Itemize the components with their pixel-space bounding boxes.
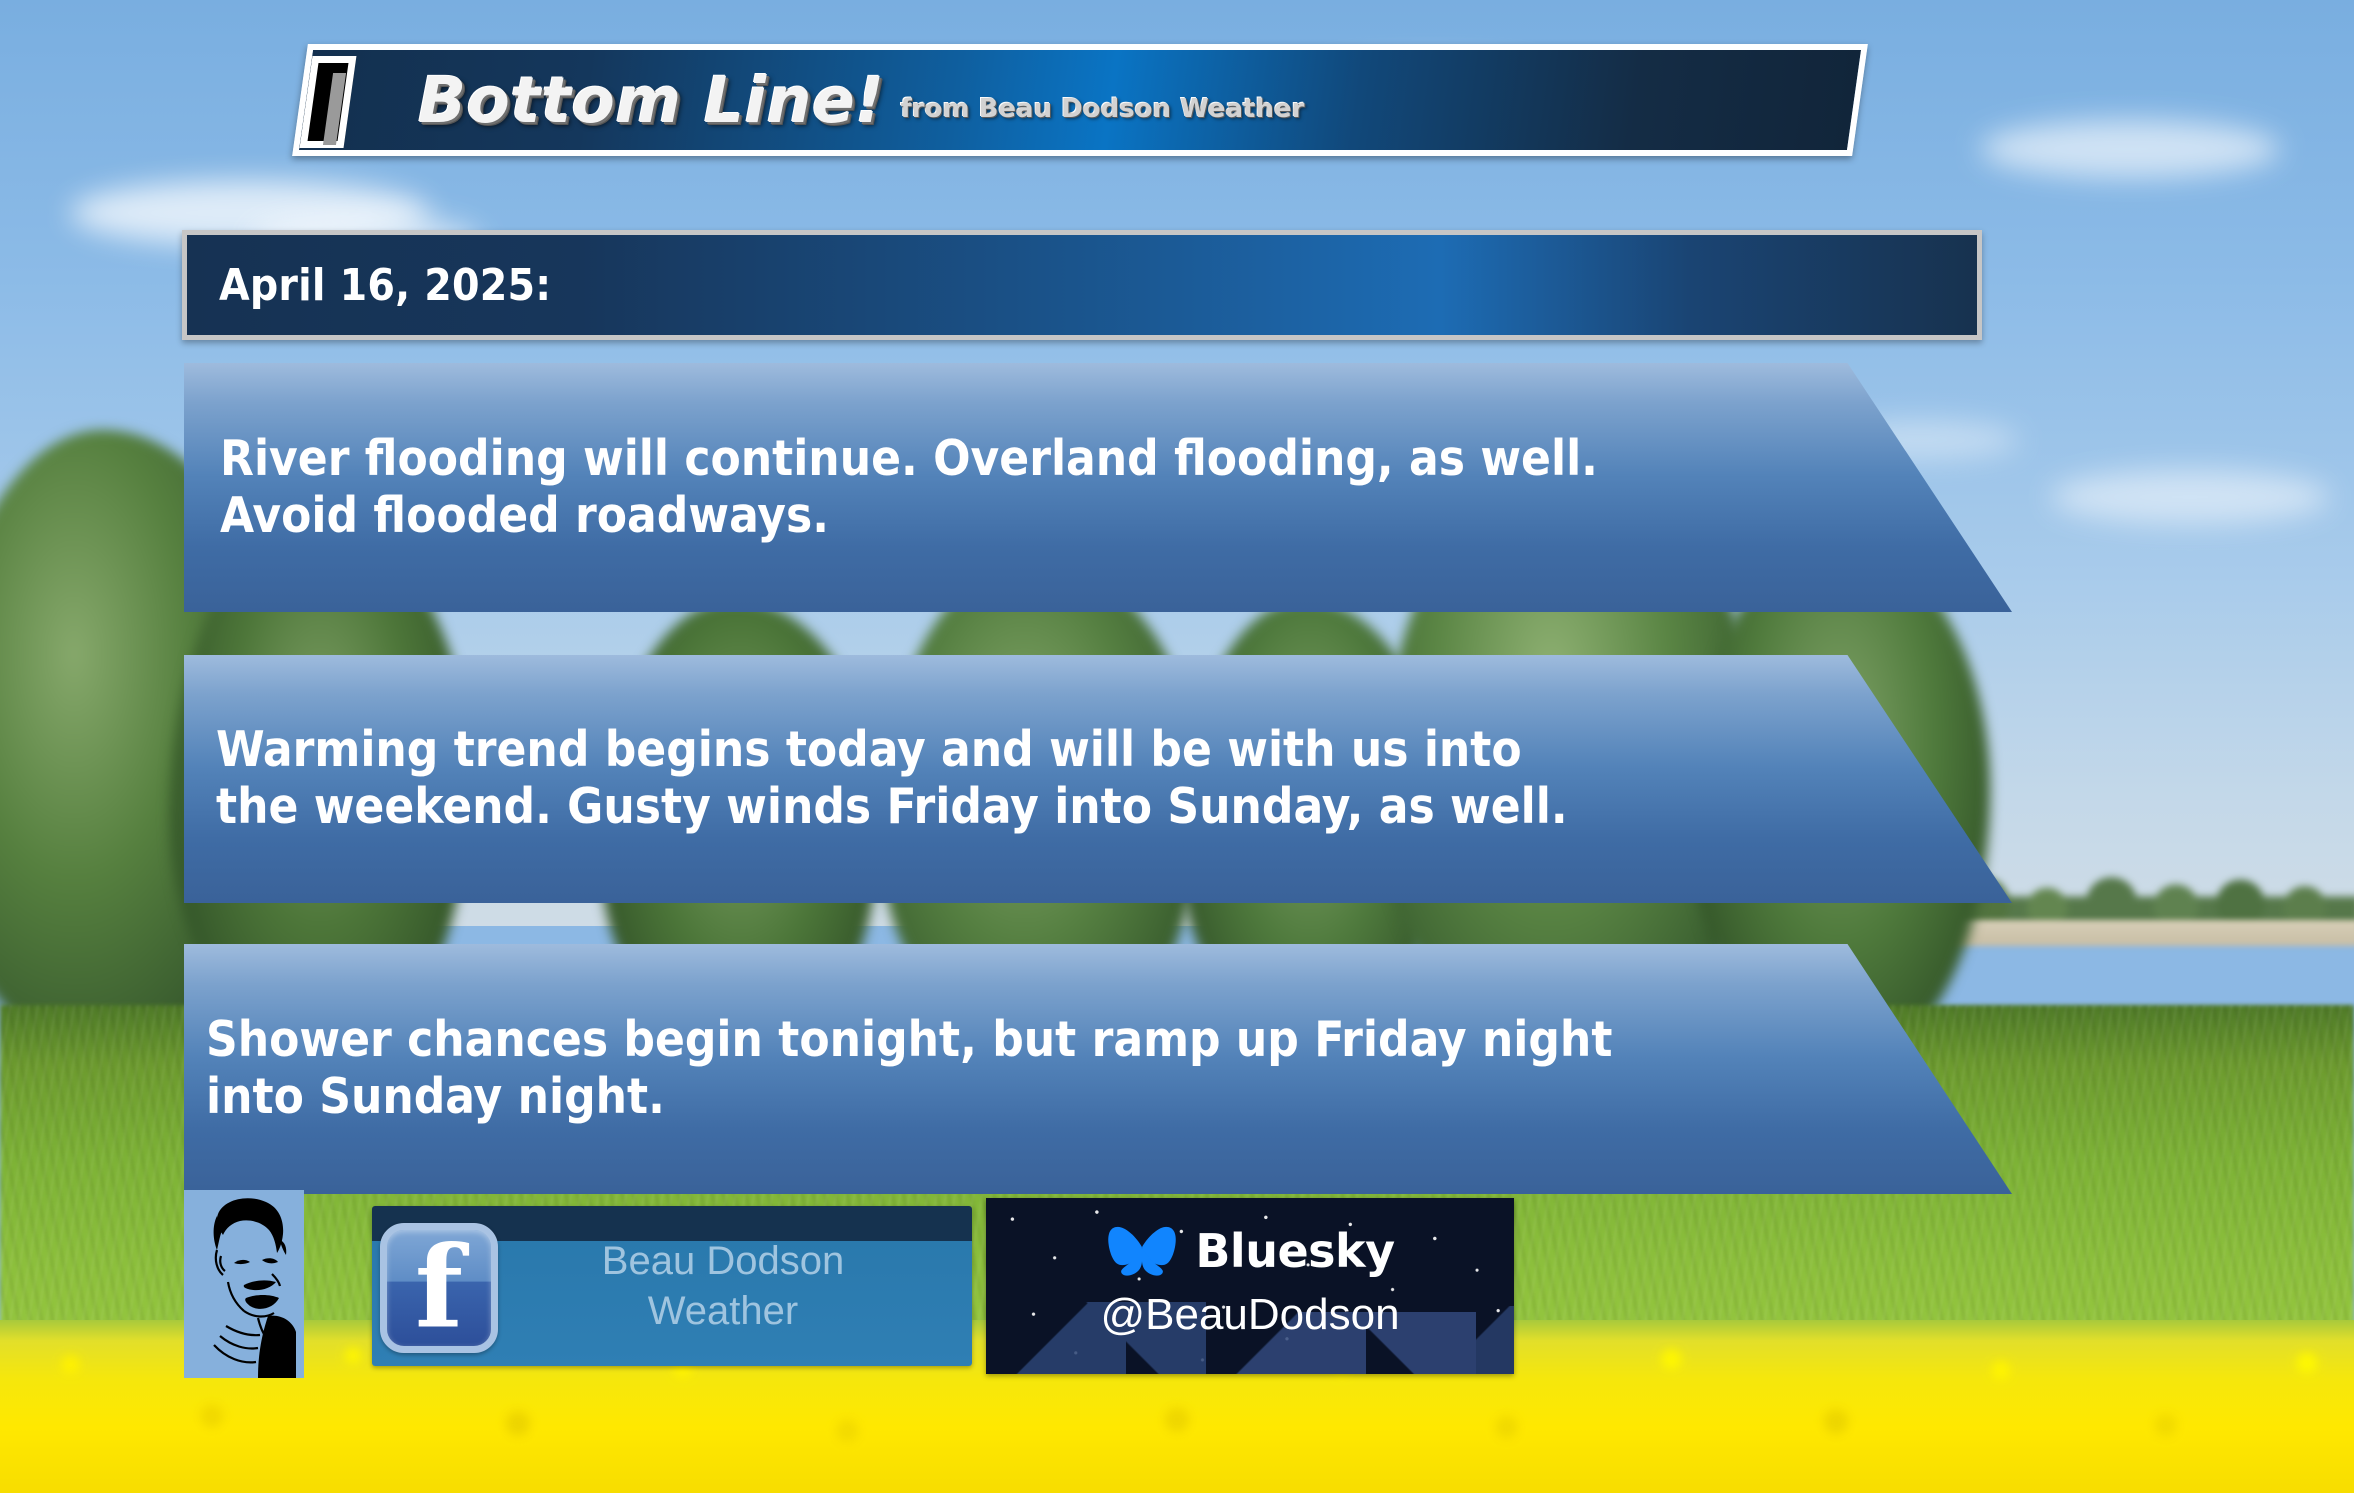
banner-title: Bottom Line! — [418, 64, 884, 137]
facebook-label-line2: Weather — [498, 1286, 948, 1336]
forecast-panel: River flooding will continue. Overland f… — [184, 363, 2012, 612]
forecast-line: Avoid flooded roadways. — [220, 488, 2012, 545]
bluesky-butterfly-icon — [1105, 1224, 1179, 1278]
banner-text-group: Bottom Line! from Beau Dodson Weather — [300, 44, 1860, 156]
forecast-panel-body: River flooding will continue. Overland f… — [184, 431, 2012, 545]
facebook-badge[interactable]: f Beau Dodson Weather — [372, 1206, 972, 1366]
forecast-line: River flooding will continue. Overland f… — [220, 431, 2012, 488]
forecast-line: the weekend. Gusty winds Friday into Sun… — [216, 779, 2012, 836]
cloud — [1980, 120, 2280, 178]
forecast-line: Warming trend begins today and will be w… — [216, 722, 2012, 779]
forecast-panel: Shower chances begin tonight, but ramp u… — [184, 944, 2012, 1194]
beau-dodson-portrait — [184, 1190, 304, 1378]
date-bar: April 16, 2025: — [182, 230, 1982, 340]
facebook-label-line1: Beau Dodson — [498, 1236, 948, 1286]
bluesky-logo-row: Bluesky — [986, 1224, 1514, 1278]
bluesky-name: Bluesky — [1195, 1224, 1394, 1278]
cloud — [2050, 470, 2330, 524]
forecast-line: into Sunday night. — [206, 1069, 2012, 1126]
bluesky-badge[interactable]: Bluesky @BeauDodson — [986, 1198, 1514, 1374]
forecast-line: Shower chances begin tonight, but ramp u… — [206, 1012, 2012, 1069]
facebook-f-glyph: f — [387, 1236, 491, 1339]
facebook-f-icon[interactable]: f — [380, 1223, 498, 1353]
forecast-panel-body: Shower chances begin tonight, but ramp u… — [184, 1012, 2012, 1126]
forecast-panel-body: Warming trend begins today and will be w… — [184, 722, 2012, 836]
bluesky-handle: @BeauDodson — [986, 1290, 1514, 1340]
facebook-label: Beau Dodson Weather — [498, 1236, 972, 1336]
banner-subtitle: from Beau Dodson Weather — [900, 94, 1304, 124]
forecast-panel: Warming trend begins today and will be w… — [184, 655, 2012, 903]
header-banner: Bottom Line! from Beau Dodson Weather — [300, 44, 1860, 156]
date-text: April 16, 2025: — [187, 260, 551, 311]
